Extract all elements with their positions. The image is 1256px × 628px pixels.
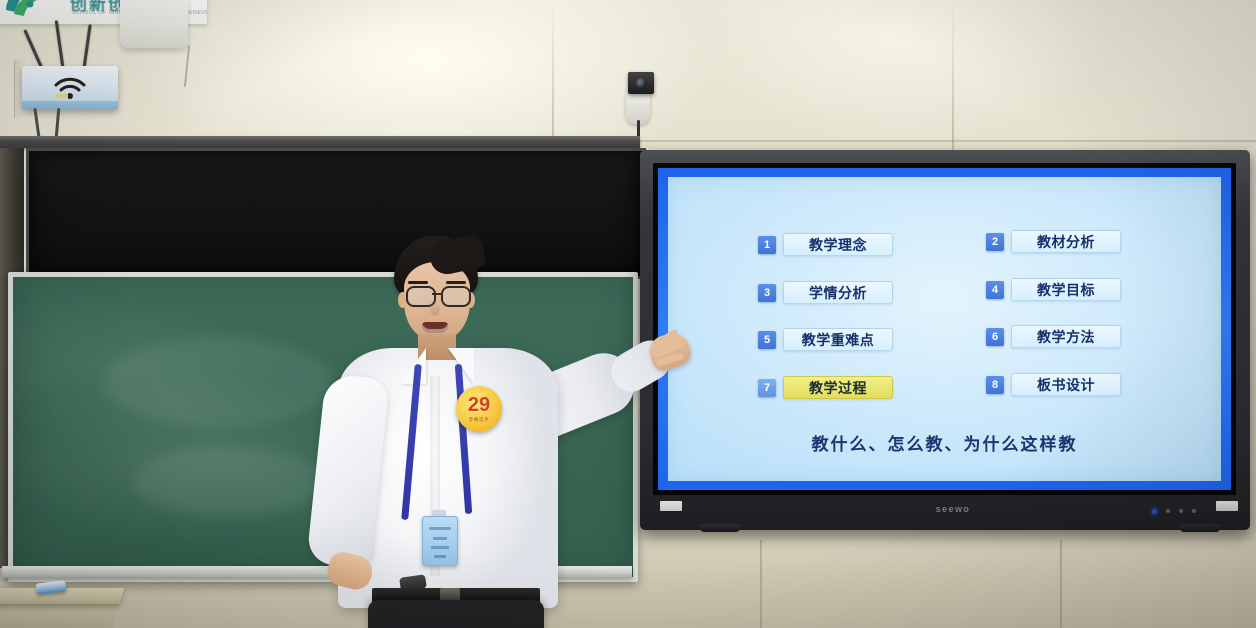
bezel-sticker [1216,501,1238,511]
badge-line [433,537,447,540]
video-frame: 创新创业学院 SCHOOL OF INNOVATION AND ENTREPRE… [0,0,1256,628]
badge-line [434,555,446,558]
presenter-trousers [368,600,544,628]
slide-item-number: 8 [986,376,1004,394]
display-brand-logo: seewo [930,503,976,514]
slide-item-8[interactable]: 8 板书设计 [986,373,1121,396]
wainscot-seam [760,540,762,628]
display-foot [700,524,740,532]
presenter-eyebrow [446,281,466,284]
slide-item-label: 板书设计 [1011,373,1121,396]
display-button[interactable] [1166,509,1170,513]
slide-item-number: 7 [758,379,776,397]
slide-item-5[interactable]: 5 教学重难点 [758,328,893,351]
slide-item-number: 5 [758,331,776,349]
display-control-buttons[interactable] [1152,508,1210,514]
contestant-number-badge: 29 参赛选手 [456,386,502,432]
display-foot [1180,524,1220,532]
display-button[interactable] [1179,509,1183,513]
blackboard-rail [0,136,640,148]
slide-item-label: 教学过程 [783,376,893,399]
badge-line [429,527,451,530]
wifi-router [22,66,118,110]
slide-item-1[interactable]: 1 教学理念 [758,233,893,256]
slide-item-label: 教学重难点 [783,328,893,351]
slide-item-number: 4 [986,281,1004,299]
contestant-number: 29 [468,395,490,415]
slide-item-label: 教学方法 [1011,325,1121,348]
contestant-badge-caption: 参赛选手 [469,417,489,423]
presenter-nose [430,302,440,316]
wainscot-seam [1060,540,1062,628]
slide-item-7[interactable]: 7 教学过程 [758,376,893,399]
slide-canvas: 1 教学理念 2 教材分析 3 学情分析 4 教学目标 5 教学重难 [668,177,1221,481]
badge-line [431,546,449,549]
slide-item-6[interactable]: 6 教学方法 [986,325,1121,348]
slide-item-label: 教学目标 [1011,278,1121,301]
slide-item-label: 教材分析 [1011,230,1121,253]
camera-lens-icon [636,78,647,89]
wall-seam [952,0,954,160]
id-badge [422,516,458,566]
display-button[interactable] [1192,509,1196,513]
slide-item-label: 教学理念 [783,233,893,256]
slide-item-number: 2 [986,233,1004,251]
slide-item-number: 3 [758,284,776,302]
slide-item-number: 1 [758,236,776,254]
slide-item-label: 学情分析 [783,281,893,304]
slide-item-4[interactable]: 4 教学目标 [986,278,1121,301]
presentation-slide: 1 教学理念 2 教材分析 3 学情分析 4 教学目标 5 教学重难 [658,168,1231,490]
glasses-lens-icon [441,286,471,307]
presenter-mouth [422,322,448,333]
router-led [56,94,68,98]
slide-footer-text: 教什么、怎么教、为什么这样教 [668,430,1221,455]
wall-speaker-box [120,0,188,48]
college-logo-icon [0,0,60,24]
glasses-bridge [432,293,441,295]
power-led-icon [1152,509,1157,514]
slide-item-3[interactable]: 3 学情分析 [758,281,893,304]
presenter: 29 参赛选手 [280,236,700,628]
slide-item-2[interactable]: 2 教材分析 [986,230,1121,253]
slide-item-number: 6 [986,328,1004,346]
presenter-eyebrow [408,281,428,284]
